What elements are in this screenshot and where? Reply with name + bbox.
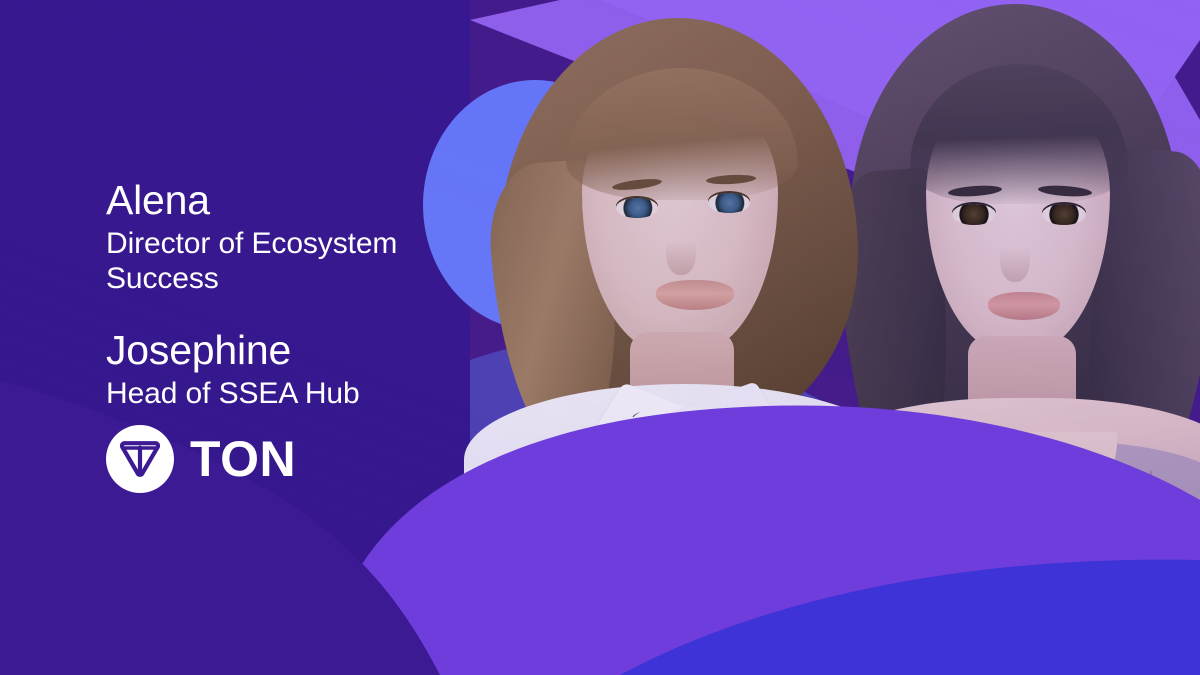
nose	[666, 227, 696, 275]
shirt-button	[689, 449, 700, 460]
eye-right	[708, 193, 750, 213]
speaker-entry-josephine: Josephine Head of SSEA Hub	[106, 326, 506, 411]
eye-left	[616, 198, 658, 218]
lips	[656, 280, 734, 310]
lips	[988, 292, 1060, 320]
speaker-entry-alena: Alena Director of Ecosystem Success	[106, 176, 506, 296]
speaker-role: Head of SSEA Hub	[106, 376, 506, 411]
ton-logo-lockup: TON	[106, 425, 296, 493]
speaker-name: Josephine	[106, 326, 506, 374]
necklace-pendant	[617, 540, 643, 566]
nose	[1000, 232, 1030, 282]
ton-wordmark: TON	[190, 434, 296, 484]
eye-left	[952, 204, 996, 225]
ton-diamond-icon	[106, 425, 174, 493]
shirt-placket	[686, 442, 702, 675]
speaker-announcement-banner: Alena Director of Ecosystem Success Jose…	[0, 0, 1200, 675]
speaker-list: Alena Director of Ecosystem Success Jose…	[106, 176, 506, 411]
text-content: Alena Director of Ecosystem Success Jose…	[0, 0, 470, 675]
speaker-name: Alena	[106, 176, 506, 224]
portrait-alena	[470, 12, 900, 675]
speaker-role: Director of Ecosystem Success	[106, 226, 506, 296]
eye-right	[1042, 204, 1086, 225]
